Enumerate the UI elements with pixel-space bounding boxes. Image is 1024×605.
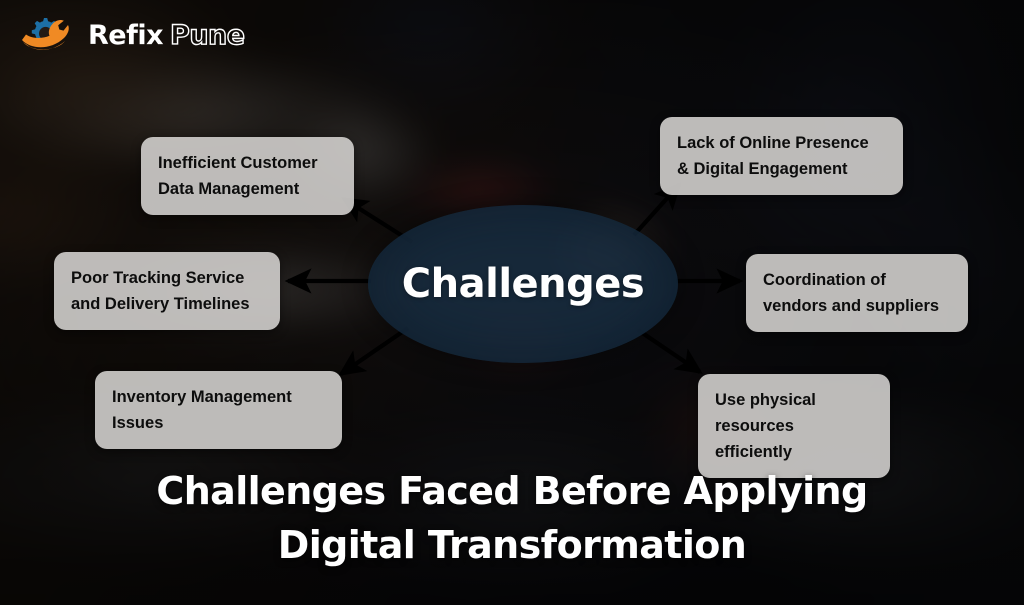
node-use-physical-resources[interactable]: Use physical resources efficiently <box>698 374 890 478</box>
arrow-to-inventory <box>341 328 408 374</box>
arrow-to-resources <box>638 330 700 372</box>
slide-canvas: RefixPune Challenges Inefficient Custome… <box>0 0 1024 605</box>
node-inventory-management-issues[interactable]: Inventory Management Issues <box>95 371 342 449</box>
node-poor-tracking-service[interactable]: Poor Tracking Service and Delivery Timel… <box>54 252 280 330</box>
brand-logo[interactable]: RefixPune <box>18 14 245 56</box>
hub-label: Challenges <box>402 261 644 307</box>
node-inefficient-customer-data-management[interactable]: Inefficient Customer Data Management <box>141 137 354 215</box>
logo-wordmark: RefixPune <box>88 22 245 49</box>
hub-ellipse: Challenges <box>368 205 678 363</box>
gear-wrench-icon <box>18 14 80 56</box>
node-lack-of-online-presence[interactable]: Lack of Online Presence & Digital Engage… <box>660 117 903 195</box>
node-coordination-of-vendors[interactable]: Coordination of vendors and suppliers <box>746 254 968 332</box>
logo-text-secondary: Pune <box>170 20 245 51</box>
logo-text-primary: Refix <box>88 20 163 51</box>
slide-headline: Challenges Faced Before Applying Digital… <box>0 465 1024 573</box>
